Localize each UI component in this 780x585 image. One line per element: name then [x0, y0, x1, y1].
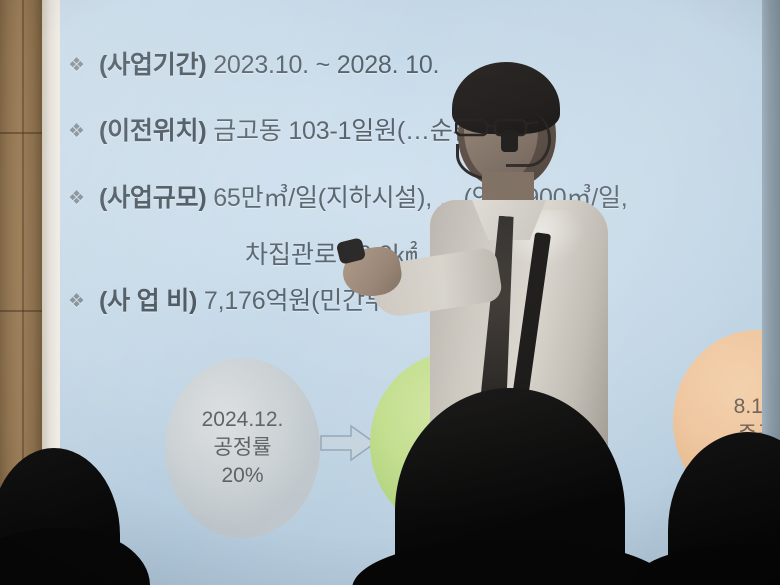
slide-bullet-4-label: (사 업 비): [99, 287, 197, 315]
slide-bullet-1: ❖ (사업기간) 2023.10. ~ 2028. 10.: [68, 52, 439, 78]
slide-bullet-3-label: (사업규모): [99, 184, 206, 212]
timeline-step-1: 2024.12. 공정률 20%: [165, 358, 320, 538]
diamond-bullet-icon: ❖: [68, 290, 90, 314]
slide-bullet-1-text: (사업기간) 2023.10. ~ 2028. 10.: [99, 52, 439, 78]
slide-bullet-1-label: (사업기간): [99, 51, 206, 79]
diamond-bullet-icon: ❖: [68, 187, 90, 211]
diamond-bullet-icon: ❖: [68, 54, 90, 78]
timeline-step-1-line-2: 공정률: [214, 434, 272, 462]
photo-scene: ❖ (사업기간) 2023.10. ~ 2028. 10. ❖ (이전위치) 금…: [0, 0, 780, 585]
flow-arrow-icon: [319, 423, 377, 463]
timeline-step-1-line-1: 2024.12.: [202, 406, 284, 434]
diamond-bullet-icon: ❖: [68, 120, 90, 144]
slide-bullet-2-label: (이전위치): [99, 117, 206, 145]
timeline-step-1-line-3: 20%: [221, 462, 263, 490]
